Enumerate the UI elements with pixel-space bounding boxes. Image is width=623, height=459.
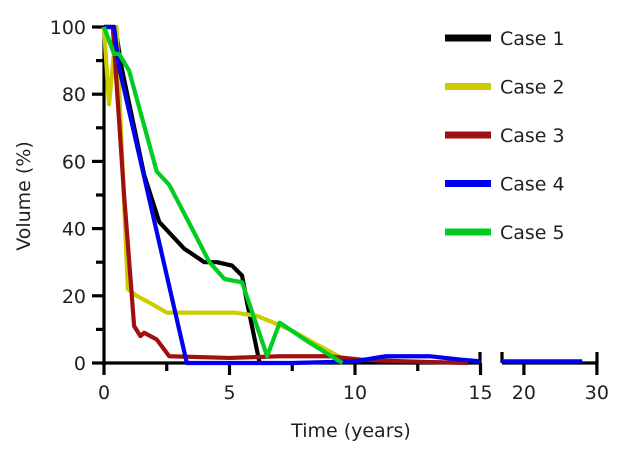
legend-label-3: Case 3 xyxy=(500,125,565,147)
x-axis-tick-labels: 0510152030 xyxy=(98,382,609,404)
y-axis-tick-labels: 020406080100 xyxy=(50,17,86,375)
x-tick-label: 5 xyxy=(223,382,235,404)
y-axis-title: Volume (%) xyxy=(13,141,35,251)
x-tick-label: 20 xyxy=(512,382,536,404)
series-line-case-2 xyxy=(104,27,345,360)
y-tick-label: 40 xyxy=(62,219,86,241)
x-tick-label: 10 xyxy=(343,382,367,404)
y-tick-label: 20 xyxy=(62,286,86,308)
x-tick-label: 0 xyxy=(98,382,110,404)
x-axis: 0510152030 Time (years) xyxy=(98,352,609,442)
y-axis-ticks xyxy=(92,27,104,363)
legend-label-5: Case 5 xyxy=(500,222,565,244)
y-tick-label: 80 xyxy=(62,84,86,106)
legend-label-2: Case 2 xyxy=(500,77,565,99)
series-line-case-4 xyxy=(104,27,481,363)
y-tick-label: 0 xyxy=(74,353,86,375)
y-axis: 020406080100 Volume (%) xyxy=(13,17,104,375)
x-tick-label: 15 xyxy=(468,382,492,404)
chart-legend: Case 1Case 2Case 3Case 4Case 5 xyxy=(445,28,565,244)
legend-label-4: Case 4 xyxy=(500,174,565,196)
x-tick-label: 30 xyxy=(585,382,609,404)
legend-label-1: Case 1 xyxy=(500,28,565,50)
chart-container: 020406080100 Volume (%) 0510152030 Time … xyxy=(0,0,623,459)
y-tick-label: 100 xyxy=(50,17,86,39)
line-chart: 020406080100 Volume (%) 0510152030 Time … xyxy=(0,0,623,459)
x-axis-title: Time (years) xyxy=(290,420,411,442)
y-tick-label: 60 xyxy=(62,151,86,173)
series-line-case-3 xyxy=(104,27,468,363)
